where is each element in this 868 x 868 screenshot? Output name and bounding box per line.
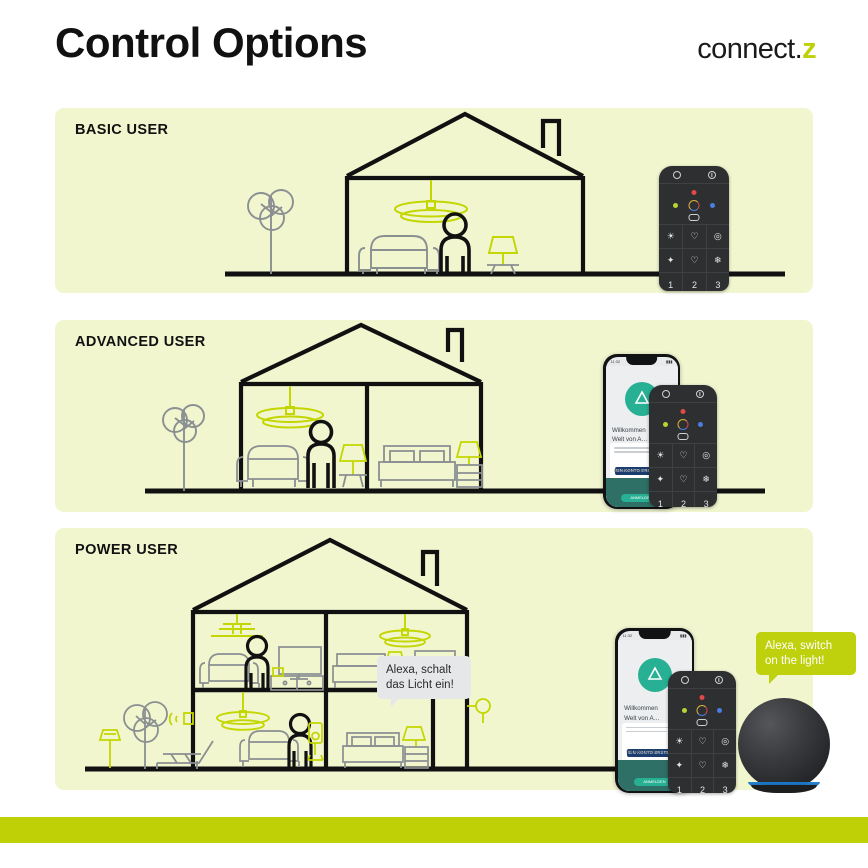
footer-bar <box>0 817 868 843</box>
heart-icon[interactable]: ♡ <box>682 224 705 248</box>
side-table-icon <box>339 475 367 487</box>
ceiling-fan-icon <box>211 614 263 636</box>
remote-keypad[interactable]: ☀ ♡ ◎ ✦ ♡ ❄ 1 2 3 <box>668 729 736 793</box>
remote-top-row[interactable] <box>668 671 736 689</box>
key-3[interactable]: 3 <box>694 491 717 507</box>
status-icons: ▮▮▮ <box>666 359 673 364</box>
power-ring-icon[interactable] <box>662 390 670 398</box>
power-ring-icon[interactable] <box>673 171 681 179</box>
blue-dot-icon[interactable] <box>698 422 703 427</box>
table-lamp-icon <box>340 445 366 475</box>
person-icon <box>308 422 334 489</box>
key-3[interactable]: 3 <box>713 777 736 793</box>
speech-bubble-german: Alexa, schalt das Licht ein! <box>377 656 471 699</box>
target-icon[interactable]: ◎ <box>713 729 736 753</box>
red-dot-icon[interactable] <box>700 695 705 700</box>
key-1[interactable]: 1 <box>668 777 691 793</box>
color-wheel-icon[interactable] <box>689 200 700 211</box>
power-icon[interactable] <box>715 676 723 684</box>
dim-icon[interactable]: ✦ <box>668 753 691 777</box>
pendant-lamp-icon <box>380 614 430 647</box>
green-dot-icon[interactable] <box>673 203 678 208</box>
power-icon[interactable] <box>696 390 704 398</box>
welcome-text: Willkommen Welt von A… <box>624 704 660 723</box>
heart-icon[interactable]: ♡ <box>691 729 714 753</box>
brand-accent: z <box>802 33 816 65</box>
blue-dot-icon[interactable] <box>717 708 722 713</box>
login-hint: Ich habe bereits ein… <box>626 749 669 754</box>
phone-notch <box>626 357 658 365</box>
bed-icon <box>343 733 403 768</box>
tree-icon <box>124 702 167 769</box>
power-ring-icon[interactable] <box>681 676 689 684</box>
color-wheel-icon[interactable] <box>678 419 689 430</box>
pendant-lamp-icon <box>217 692 269 730</box>
smart-speaker-echo[interactable] <box>738 698 830 790</box>
heart-plus-icon[interactable]: ♡ <box>672 467 695 491</box>
target-icon[interactable]: ◎ <box>694 443 717 467</box>
key-1[interactable]: 1 <box>649 491 672 507</box>
brightness-icon[interactable]: ☀ <box>668 729 691 753</box>
remote-top-row[interactable] <box>649 385 717 403</box>
key-1[interactable]: 1 <box>659 272 682 291</box>
awox-logo-icon <box>638 658 672 692</box>
snowflake-icon[interactable]: ❄ <box>713 753 736 777</box>
remote-keypad[interactable]: ☀ ♡ ◎ ✦ ♡ ❄ 1 2 3 <box>649 443 717 507</box>
heart-plus-icon[interactable]: ♡ <box>682 248 705 272</box>
nightstand-icon <box>405 747 428 768</box>
garden-lamp-icon <box>100 730 120 768</box>
key-2[interactable]: 2 <box>682 272 705 291</box>
heart-icon[interactable]: ♡ <box>672 443 695 467</box>
person-icon <box>441 214 469 274</box>
loop-icon[interactable] <box>689 214 700 221</box>
target-icon[interactable]: ◎ <box>706 224 729 248</box>
speech-bubble-english: Alexa, switch on the light! <box>756 632 856 675</box>
infographic-page: Control Options connect.z BASIC USER <box>0 0 868 868</box>
green-dot-icon[interactable] <box>663 422 668 427</box>
bed-icon <box>379 446 455 487</box>
color-wheel-icon[interactable] <box>697 705 708 716</box>
green-dot-icon[interactable] <box>682 708 687 713</box>
dim-icon[interactable]: ✦ <box>659 248 682 272</box>
snowflake-icon[interactable]: ❄ <box>706 248 729 272</box>
echo-body <box>738 698 830 790</box>
heart-plus-icon[interactable]: ♡ <box>691 753 714 777</box>
lounge-chair-icon <box>157 741 213 769</box>
card-line <box>614 451 654 453</box>
page-title: Control Options <box>55 22 367 64</box>
pendant-lamp-icon <box>257 386 323 428</box>
key-2[interactable]: 2 <box>672 491 695 507</box>
brightness-icon[interactable]: ☀ <box>649 443 672 467</box>
phone-notch <box>638 631 671 639</box>
tv-icon <box>279 647 321 679</box>
remote-control-power[interactable]: ☀ ♡ ◎ ✦ ♡ ❄ 1 2 3 <box>668 671 736 793</box>
remote-top-row[interactable] <box>659 166 729 184</box>
snowflake-icon[interactable]: ❄ <box>694 467 717 491</box>
red-dot-icon[interactable] <box>681 409 686 414</box>
echo-base <box>751 785 817 793</box>
tree-icon <box>248 190 293 274</box>
key-2[interactable]: 2 <box>691 777 714 793</box>
brightness-icon[interactable]: ☀ <box>659 224 682 248</box>
remote-color-area[interactable] <box>659 184 729 224</box>
armchair-icon <box>359 236 439 274</box>
remote-keypad[interactable]: ☀ ♡ ◎ ✦ ♡ ❄ 1 2 3 <box>659 224 729 291</box>
status-time: 11:32 <box>611 359 621 364</box>
welcome-text: Willkommen Welt von A… <box>612 426 648 445</box>
remote-control-advanced[interactable]: ☀ ♡ ◎ ✦ ♡ ❄ 1 2 3 <box>649 385 717 507</box>
tree-icon <box>163 405 204 491</box>
remote-color-area[interactable] <box>668 689 736 729</box>
remote-control-basic[interactable]: ☀ ♡ ◎ ✦ ♡ ❄ 1 2 3 <box>659 166 729 291</box>
nightstand-lamp-icon <box>403 727 425 747</box>
blue-dot-icon[interactable] <box>710 203 715 208</box>
remote-color-area[interactable] <box>649 403 717 443</box>
loop-icon[interactable] <box>678 433 689 440</box>
card-line <box>626 731 667 733</box>
loop-icon[interactable] <box>697 719 708 726</box>
brand-text: connect. <box>697 33 802 65</box>
panel-power-user: POWER USER <box>55 528 813 790</box>
nightstand-lamp-icon <box>457 442 481 465</box>
brand-logo: connect.z <box>697 33 816 66</box>
status-time: 11:32 <box>623 633 633 638</box>
power-icon[interactable] <box>708 171 716 179</box>
table-lamp-icon <box>489 237 517 265</box>
wifi-sensor-icon <box>170 713 193 725</box>
armchair-icon <box>237 446 309 487</box>
panel-advanced-user: ADVANCED USER <box>55 320 813 512</box>
outdoor-wall-lamp-icon <box>467 699 490 723</box>
panel-basic-user: BASIC USER <box>55 108 813 293</box>
red-dot-icon[interactable] <box>692 190 697 195</box>
status-icons: ▮▮▮ <box>680 633 687 638</box>
key-3[interactable]: 3 <box>706 272 729 291</box>
dim-icon[interactable]: ✦ <box>649 467 672 491</box>
nightstand-icon <box>457 465 482 487</box>
